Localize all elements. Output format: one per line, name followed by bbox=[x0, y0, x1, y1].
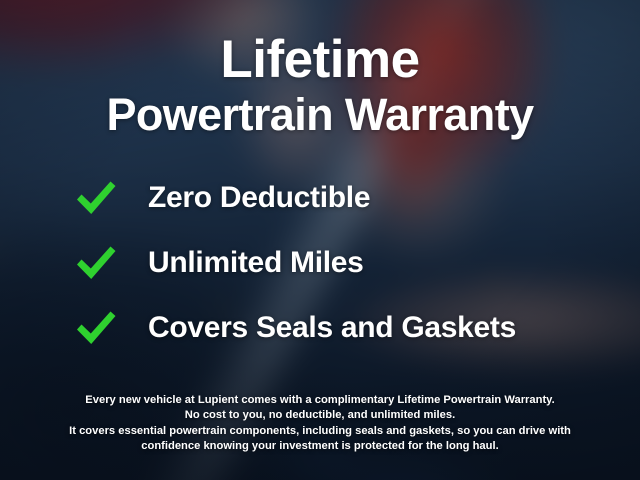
description-line-2: No cost to you, no deductible, and unlim… bbox=[34, 408, 606, 423]
headline-line-2: Powertrain Warranty bbox=[0, 89, 640, 140]
description-paragraph: Every new vehicle at Lupient comes with … bbox=[0, 393, 640, 454]
feature-label-covers-seals-and-gaskets: Covers Seals and Gaskets bbox=[148, 311, 516, 345]
feature-row-covers-seals-and-gaskets: Covers Seals and Gaskets bbox=[74, 295, 640, 360]
description-line-1: Every new vehicle at Lupient comes with … bbox=[34, 393, 606, 408]
feature-list: Zero Deductible Unlimited Miles Covers S… bbox=[0, 165, 640, 360]
green-checkmark-icon bbox=[74, 178, 118, 218]
feature-row-zero-deductible: Zero Deductible bbox=[74, 165, 640, 230]
description-line-4: confidence knowing your investment is pr… bbox=[34, 439, 606, 454]
headline-block: Lifetime Powertrain Warranty bbox=[0, 0, 640, 140]
banner-content: Lifetime Powertrain Warranty Zero Deduct… bbox=[0, 0, 640, 480]
feature-label-zero-deductible: Zero Deductible bbox=[148, 181, 370, 215]
description-line-3: It covers essential powertrain component… bbox=[34, 424, 606, 439]
feature-row-unlimited-miles: Unlimited Miles bbox=[74, 230, 640, 295]
warranty-promo-banner: Lifetime Powertrain Warranty Zero Deduct… bbox=[0, 0, 640, 480]
feature-label-unlimited-miles: Unlimited Miles bbox=[148, 246, 364, 280]
green-checkmark-icon bbox=[74, 243, 118, 283]
headline-line-1: Lifetime bbox=[0, 31, 640, 89]
green-checkmark-icon bbox=[74, 308, 118, 348]
